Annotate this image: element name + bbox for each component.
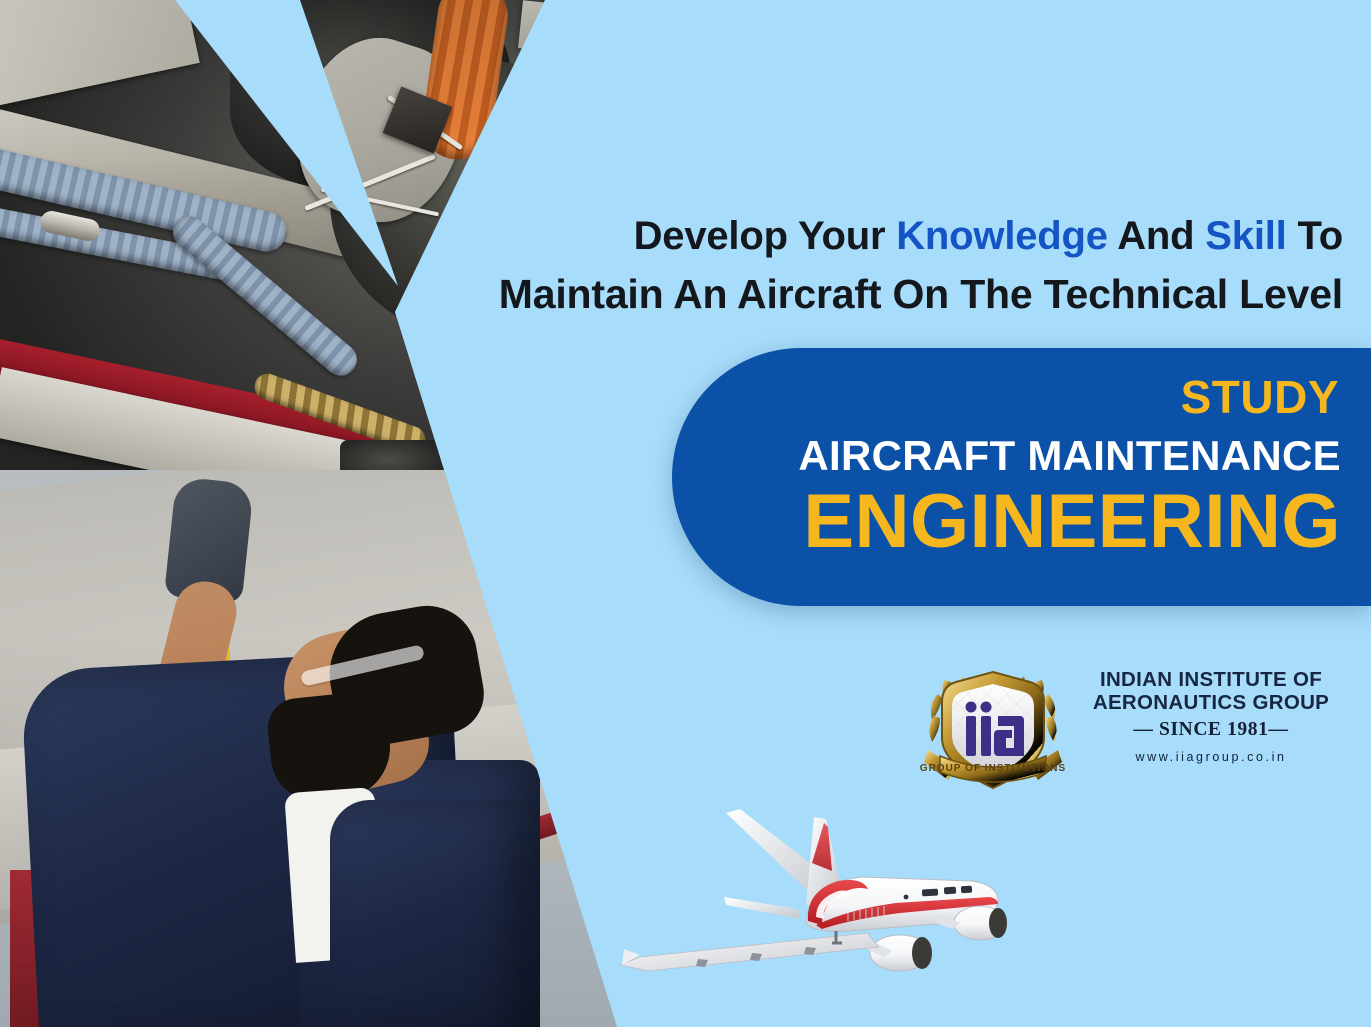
headline: Develop Your Knowledge And Skill To Main… [443,208,1343,323]
discipline-name: ENGINEERING [803,484,1341,560]
logo-wordmark: INDIAN INSTITUTE OF AERONAUTICS GROUP — … [1078,668,1344,764]
study-label: STUDY [1181,370,1339,424]
logo-since: — SINCE 1981— [1078,719,1344,741]
course-name: AIRCRAFT MAINTENANCE [798,432,1341,480]
shield-crest-icon: GROUP OF INSTITUTIONS [918,664,1068,799]
logo-name-line1: INDIAN INSTITUTE OF [1078,668,1344,691]
institution-logo: GROUP OF INSTITUTIONS INDIAN INSTITUTE O… [918,662,1348,804]
headline-line2: Maintain An Aircraft On The Technical Le… [443,265,1343,323]
logo-name-line2: AERONAUTICS GROUP [1078,691,1344,714]
logo-ribbon-text: GROUP OF INSTITUTIONS [920,763,1066,774]
headline-line1: Develop Your Knowledge And Skill To [634,214,1343,258]
logo-website: www.iiagroup.co.in [1078,750,1344,764]
airplane-icon [600,805,1070,1005]
course-panel: STUDY AIRCRAFT MAINTENANCE ENGINEERING [672,348,1371,606]
promotional-banner: Develop Your Knowledge And Skill To Main… [0,0,1371,1027]
